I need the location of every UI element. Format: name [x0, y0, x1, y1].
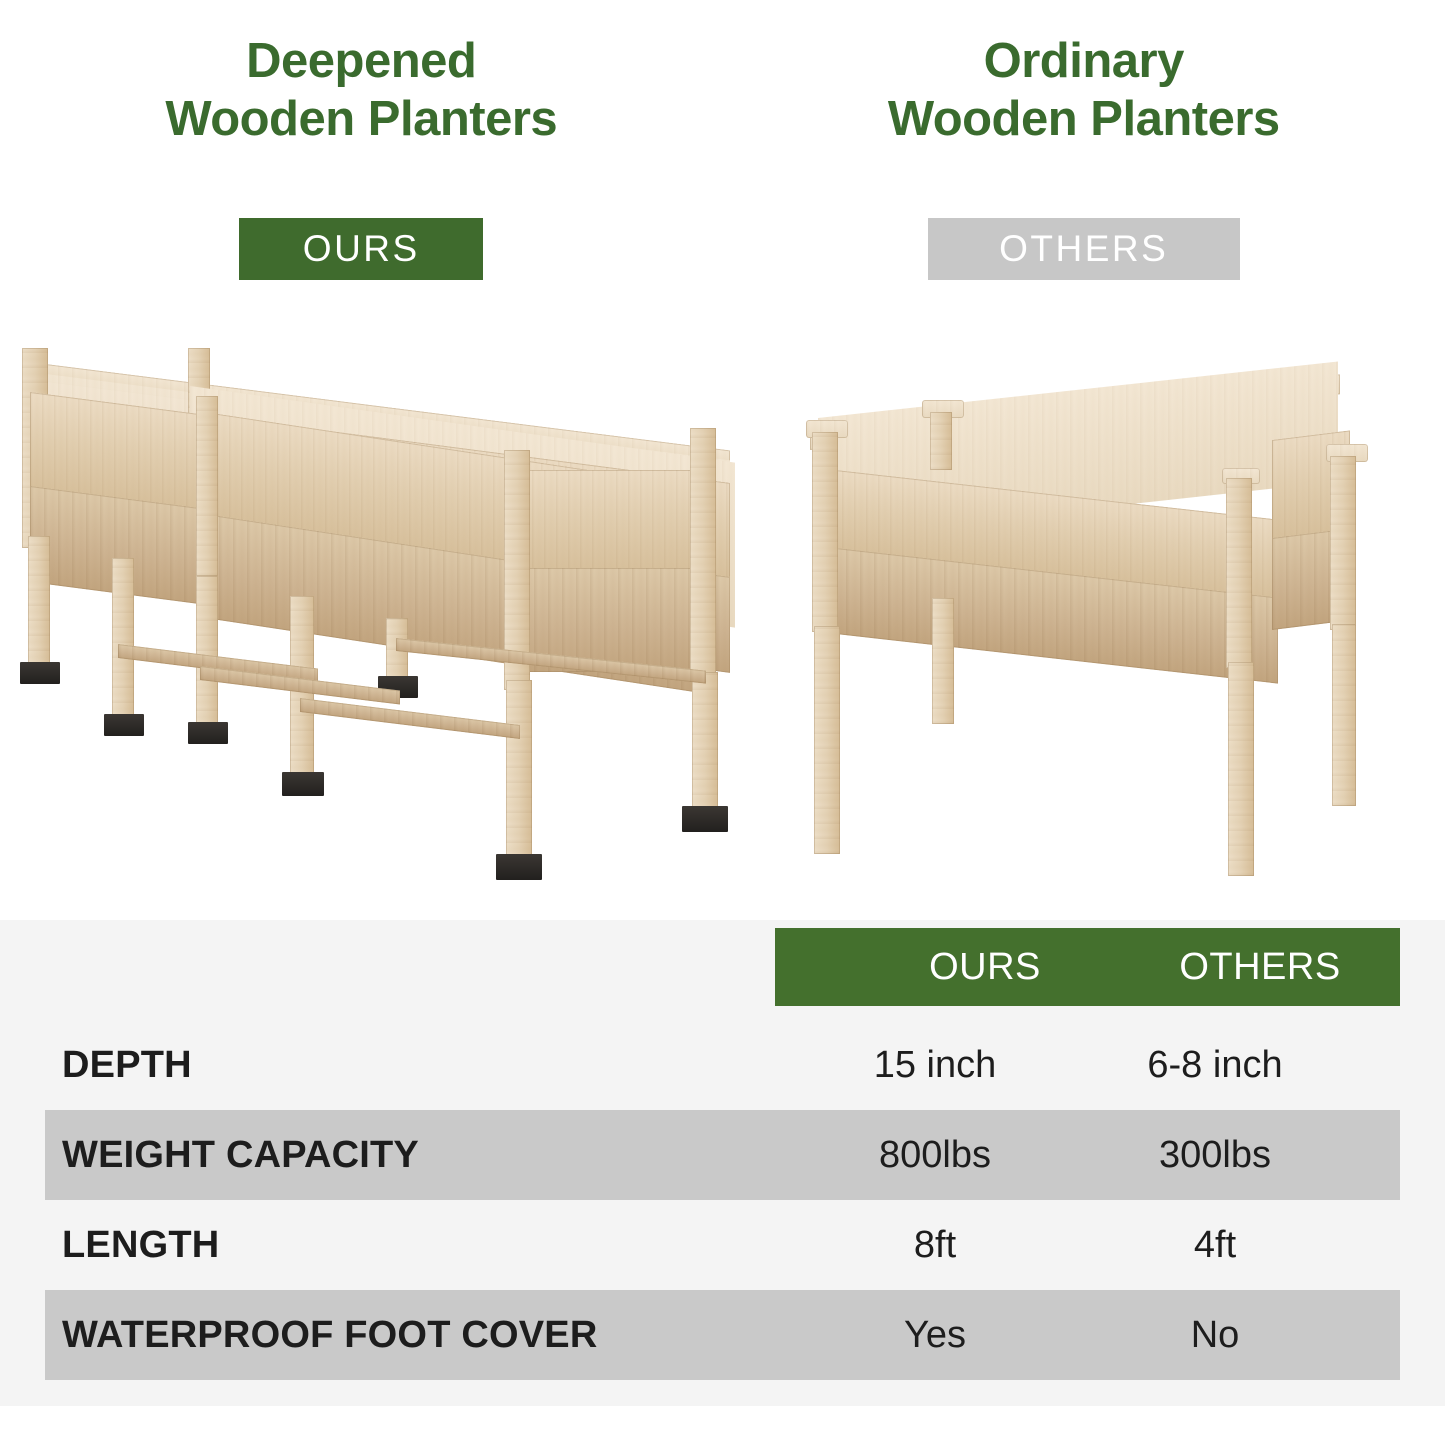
others-corner-post-right: [1330, 456, 1356, 630]
others-corner-post-front: [1226, 478, 1252, 668]
heading-ours-line2: Wooden Planters: [165, 90, 557, 148]
heading-others-line1: Ordinary: [984, 32, 1184, 90]
row-value-others: 6-8 inch: [1080, 1044, 1350, 1087]
table-header-ours: OURS: [855, 946, 1115, 989]
row-label: DEPTH: [62, 1044, 192, 1087]
table-row: DEPTH 15 inch 6-8 inch: [45, 1020, 1400, 1110]
comparison-table: OURS OTHERS DEPTH 15 inch 6-8 inch WEIGH…: [0, 920, 1445, 1406]
product-image-others: [0, 300, 1445, 918]
row-value-others: 300lbs: [1080, 1134, 1350, 1177]
table-header: OURS OTHERS: [775, 928, 1400, 1006]
row-value-ours: Yes: [800, 1314, 1070, 1357]
others-corner-post-rear: [930, 412, 952, 470]
product-comparison-infographic: Deepened Wooden Planters Ordinary Wooden…: [0, 0, 1445, 1445]
table-header-others: OTHERS: [1135, 946, 1385, 989]
badge-col-ours: OURS: [0, 218, 723, 280]
table-body: DEPTH 15 inch 6-8 inch WEIGHT CAPACITY 8…: [45, 1020, 1400, 1380]
row-value-others: No: [1080, 1314, 1350, 1357]
table-row: WATERPROOF FOOT COVER Yes No: [45, 1290, 1400, 1380]
row-value-ours: 15 inch: [800, 1044, 1070, 1087]
heading-others: Ordinary Wooden Planters: [723, 32, 1445, 162]
row-label: WEIGHT CAPACITY: [62, 1134, 419, 1177]
heading-others-line2: Wooden Planters: [888, 90, 1280, 148]
row-value-ours: 800lbs: [800, 1134, 1070, 1177]
others-corner-post-left: [812, 432, 838, 632]
others-leg-1: [814, 626, 840, 854]
product-images-row: [0, 300, 1445, 918]
row-label: LENGTH: [62, 1224, 219, 1267]
table-row: WEIGHT CAPACITY 800lbs 300lbs: [45, 1110, 1400, 1200]
badge-ours: OURS: [239, 218, 483, 280]
others-leg-3: [1228, 662, 1254, 876]
row-label: WATERPROOF FOOT COVER: [62, 1314, 598, 1357]
badges-row: OURS OTHERS: [0, 218, 1445, 280]
heading-ours-line1: Deepened: [246, 32, 476, 90]
row-value-ours: 8ft: [800, 1224, 1070, 1267]
row-value-others: 4ft: [1080, 1224, 1350, 1267]
headings-row: Deepened Wooden Planters Ordinary Wooden…: [0, 32, 1445, 162]
table-row: LENGTH 8ft 4ft: [45, 1200, 1400, 1290]
badge-others: OTHERS: [928, 218, 1240, 280]
others-leg-4: [1332, 624, 1356, 806]
heading-ours: Deepened Wooden Planters: [0, 32, 723, 162]
others-leg-2: [932, 598, 954, 724]
badge-col-others: OTHERS: [723, 218, 1445, 280]
